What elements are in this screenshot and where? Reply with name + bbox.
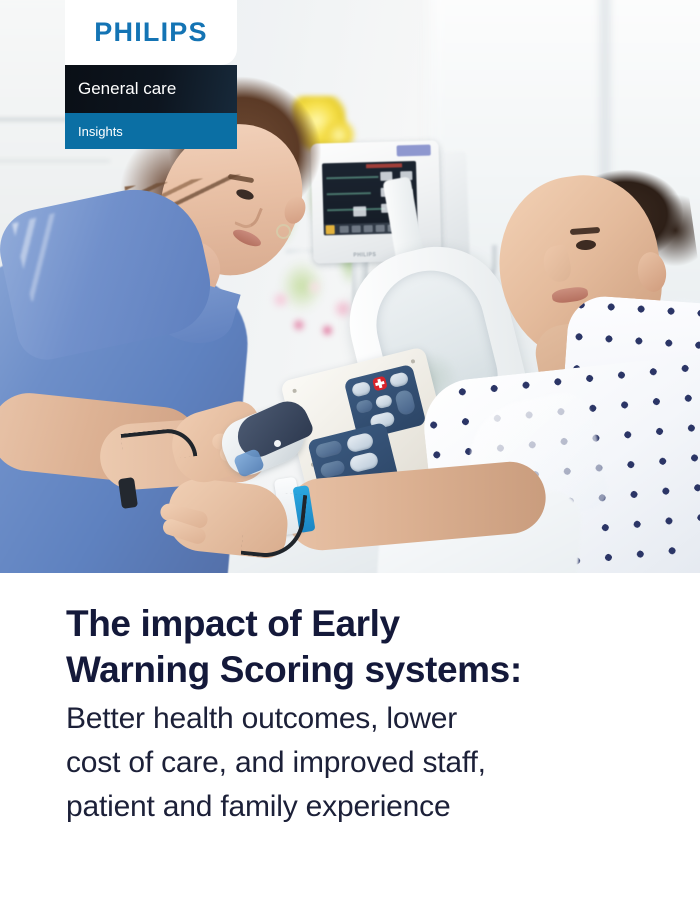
philips-logo-panel: PHILIPS bbox=[65, 0, 237, 65]
monitor-waveform bbox=[326, 176, 378, 179]
monitor-value-tile bbox=[353, 206, 366, 216]
nurse-earring bbox=[276, 224, 291, 239]
series-bar: Insights bbox=[65, 113, 237, 149]
page-subtitle: Better health outcomes, lower cost of ca… bbox=[66, 697, 660, 829]
monitor-waveform bbox=[327, 192, 371, 195]
subhead-line-1: Better health outcomes, lower bbox=[66, 702, 457, 735]
philips-wordmark: PHILIPS bbox=[94, 17, 207, 48]
subhead-line-2: cost of care, and improved staff, bbox=[66, 746, 486, 779]
subhead-line-3: patient and family experience bbox=[66, 790, 450, 823]
monitor-top-accent bbox=[397, 145, 431, 157]
cover-text-block: The impact of Early Warning Scoring syst… bbox=[0, 573, 700, 906]
cover-photo: PHILIPS bbox=[0, 0, 700, 573]
monitor-alarm-indicator bbox=[326, 225, 335, 234]
monitor-alarm-bar bbox=[366, 163, 402, 168]
barcode-scanner-indicator-icon bbox=[274, 440, 281, 447]
monitor-brand-label: PHILIPS bbox=[353, 252, 376, 259]
category-label: General care bbox=[78, 79, 176, 99]
headline-line-2: Warning Scoring systems: bbox=[66, 649, 522, 690]
philips-brand-badge: PHILIPS General care Insights bbox=[65, 0, 237, 149]
page-title: The impact of Early Warning Scoring syst… bbox=[66, 601, 660, 693]
headline-line-1: The impact of Early bbox=[66, 603, 400, 644]
category-bar: General care bbox=[65, 65, 237, 113]
series-label: Insights bbox=[78, 124, 123, 139]
wall-trim-line-secondary bbox=[0, 160, 110, 162]
